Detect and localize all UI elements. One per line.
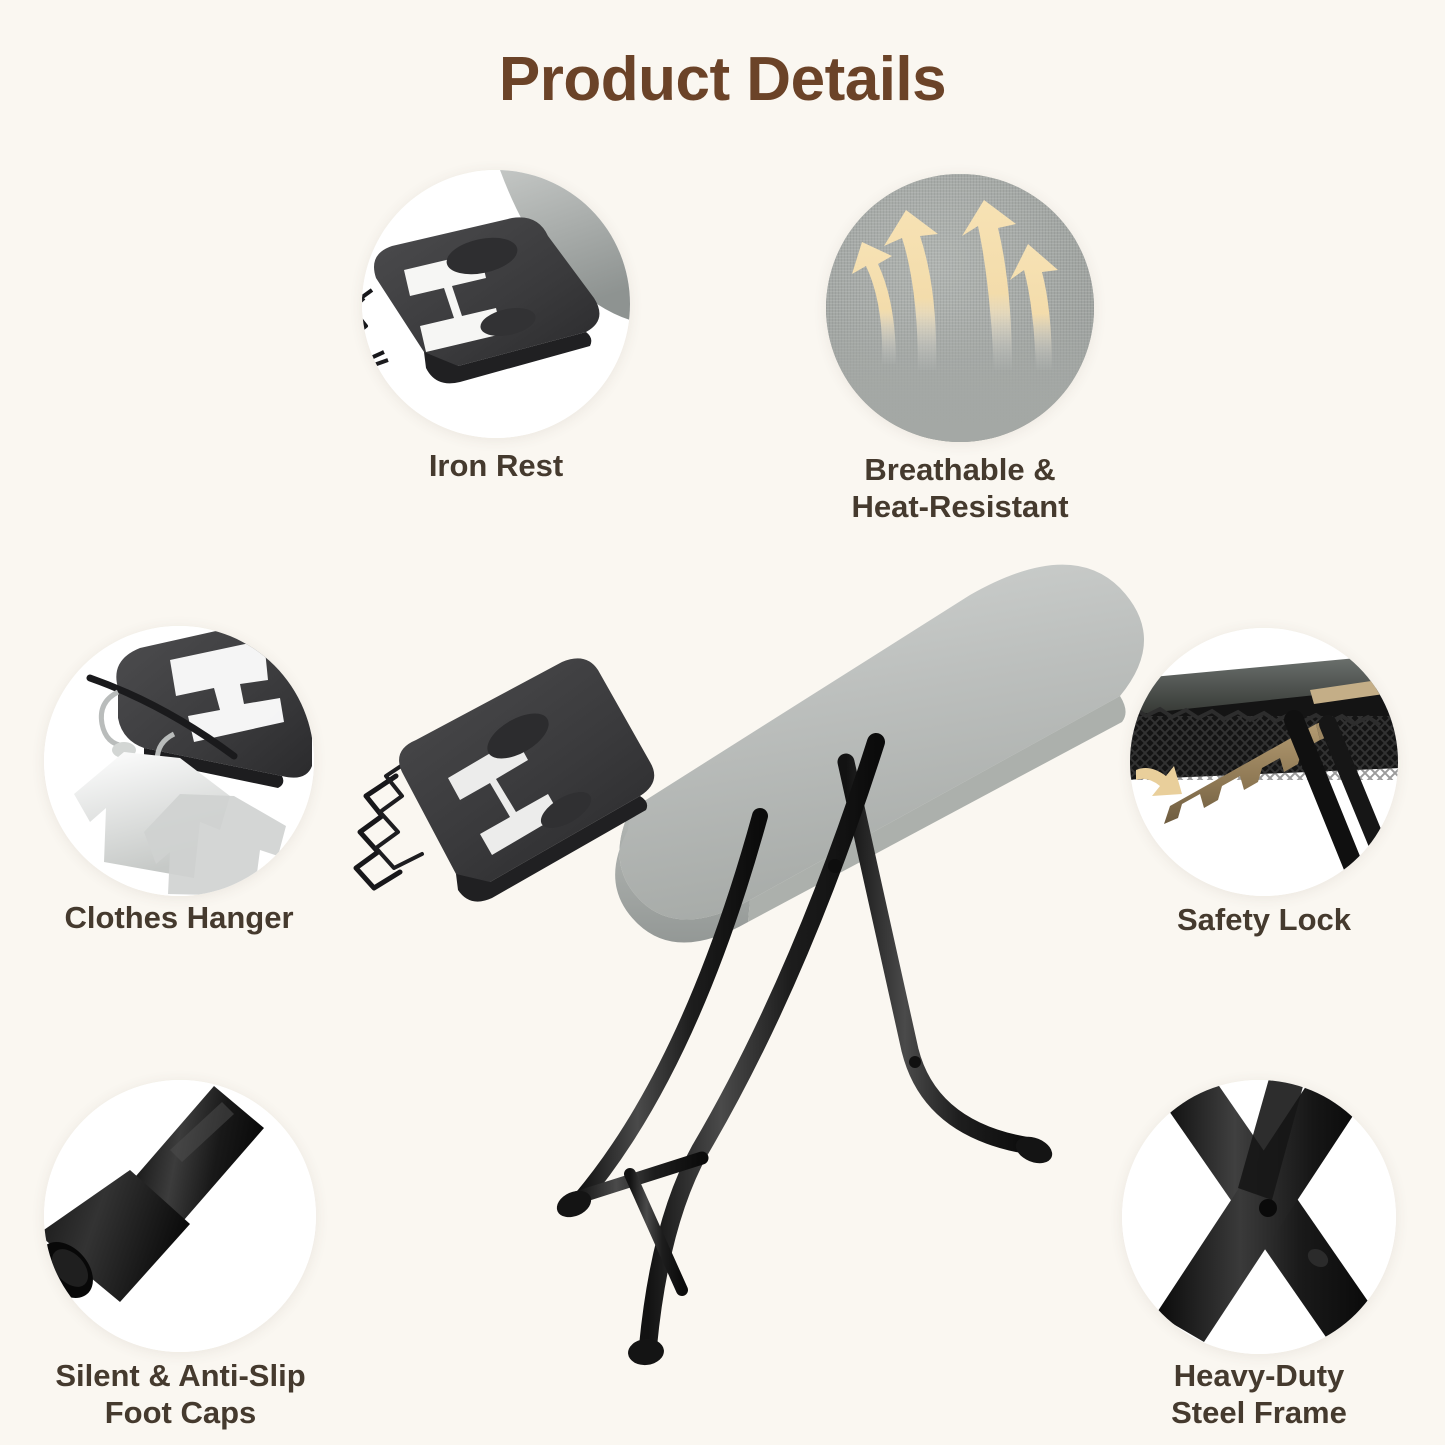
breathable-heat-image: [826, 174, 1094, 442]
feature-label-steel-frame: Heavy-Duty Steel Frame: [1104, 1358, 1414, 1431]
feature-label-breathable: Breathable & Heat-Resistant: [810, 452, 1110, 525]
feature-label-iron-rest: Iron Rest: [346, 448, 646, 485]
iron-rest-image: [362, 170, 630, 438]
page-title: Product Details: [0, 44, 1445, 115]
product-details-infographic: Product Details: [0, 0, 1445, 1445]
foot-caps: [553, 1132, 1056, 1367]
iron-rest-tray: [356, 658, 654, 901]
product-illustration: [330, 510, 1160, 1410]
feature-label-clothes-hanger: Clothes Hanger: [29, 900, 329, 937]
foot-cap-image: [44, 1080, 316, 1352]
safety-lock-image: [1130, 628, 1398, 896]
clothes-hanger-image: [44, 626, 314, 896]
feature-label-safety-lock: Safety Lock: [1114, 902, 1414, 939]
steel-frame-image: [1122, 1080, 1396, 1354]
feature-label-foot-caps: Silent & Anti-Slip Foot Caps: [13, 1358, 348, 1431]
